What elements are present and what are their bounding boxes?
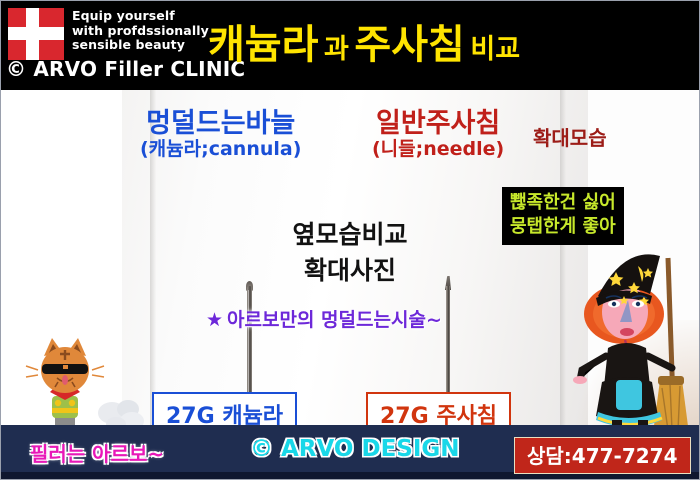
flag-cross-horizontal: [8, 27, 64, 40]
promo-note: ★아르보만의 멍덜드는시술~: [206, 305, 442, 332]
page-title: 캐늄라 과 주사침 비교: [208, 16, 692, 82]
cannula-label-sub: (캐늄라;cannula): [140, 140, 301, 160]
tagline-block: Equip yourself with profdssionally sensi…: [72, 9, 209, 53]
magnified-view-label: 확대모습: [533, 122, 607, 151]
center-note-line-2: 확대사진: [232, 253, 468, 289]
title-part-compare: 비교: [470, 34, 520, 65]
footer-phone-badge[interactable]: 상담:477-7274: [514, 437, 691, 474]
title-conjunction: 과: [324, 34, 349, 65]
poster-root: Equip yourself with profdssionally sensi…: [0, 0, 700, 480]
needle-label-title: 일반주사침: [372, 110, 504, 138]
title-part-cannula: 캐늄라: [208, 22, 318, 68]
speech-line-2: 뭉탭한게 좋아: [510, 215, 616, 239]
tagline-line-3: sensible beauty: [72, 38, 209, 53]
needle-label-sub: (니들;needle): [372, 140, 504, 160]
witch-with-broom-icon: [572, 252, 696, 438]
danish-cross-flag-icon: [8, 8, 64, 60]
header-bar: Equip yourself with profdssionally sensi…: [0, 0, 700, 90]
tagline-line-1: Equip yourself: [72, 9, 209, 24]
needle-label: 일반주사침 (니들;needle): [372, 110, 504, 160]
footer-slogan: 필러는 아르보~: [30, 438, 164, 467]
footer-copyright: © ARVO DESIGN: [250, 436, 460, 462]
title-part-needle: 주사침: [354, 22, 464, 68]
star-icon: ★: [206, 309, 223, 331]
speech-callout: 뽾족한건 싫어 뭉탭한게 좋아: [502, 187, 624, 245]
cannula-label-title: 멍덜드는바늘: [140, 110, 301, 138]
center-note-line-1: 옆모습비교: [232, 217, 468, 253]
center-note: 옆모습비교 확대사진: [232, 217, 468, 289]
speech-line-1: 뽾족한건 싫어: [510, 191, 616, 215]
promo-note-text: 아르보만의 멍덜드는시술~: [227, 309, 442, 331]
cannula-label: 멍덜드는바늘 (캐늄라;cannula): [140, 110, 301, 160]
tagline-line-2: with profdssionally: [72, 24, 209, 39]
